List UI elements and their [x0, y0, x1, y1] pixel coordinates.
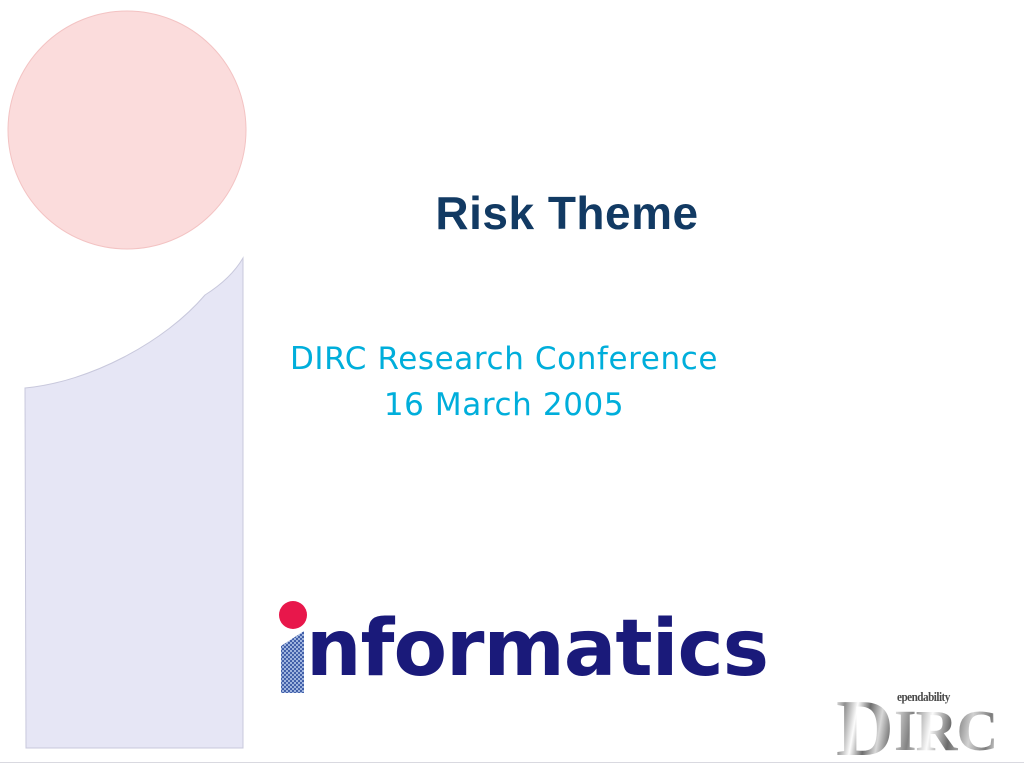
informatics-wordmark: nformatics [306, 610, 768, 688]
slide-subtitle: DIRC Research Conference 16 March 2005 [0, 336, 1024, 428]
page-title: Risk Theme [0, 186, 1024, 240]
presentation-slide: Risk Theme DIRC Research Conference 16 M… [0, 0, 1024, 768]
subtitle-line-conference: DIRC Research Conference [290, 336, 718, 382]
lavender-curved-band [25, 258, 243, 748]
dirc-irc-text: IRC [894, 702, 997, 760]
pink-dot [279, 601, 307, 629]
bottom-divider [0, 762, 1024, 763]
halftone-i-stem [281, 631, 304, 693]
informatics-logo: nformatics [268, 598, 758, 698]
dirc-letter-d: D [836, 689, 894, 768]
dirc-logo: D ependability IRC [836, 688, 1008, 760]
page-title-text: Risk Theme [435, 186, 698, 240]
subtitle-line-date: 16 March 2005 [290, 382, 718, 428]
slide-subtitle-block: DIRC Research Conference 16 March 2005 [290, 336, 718, 428]
